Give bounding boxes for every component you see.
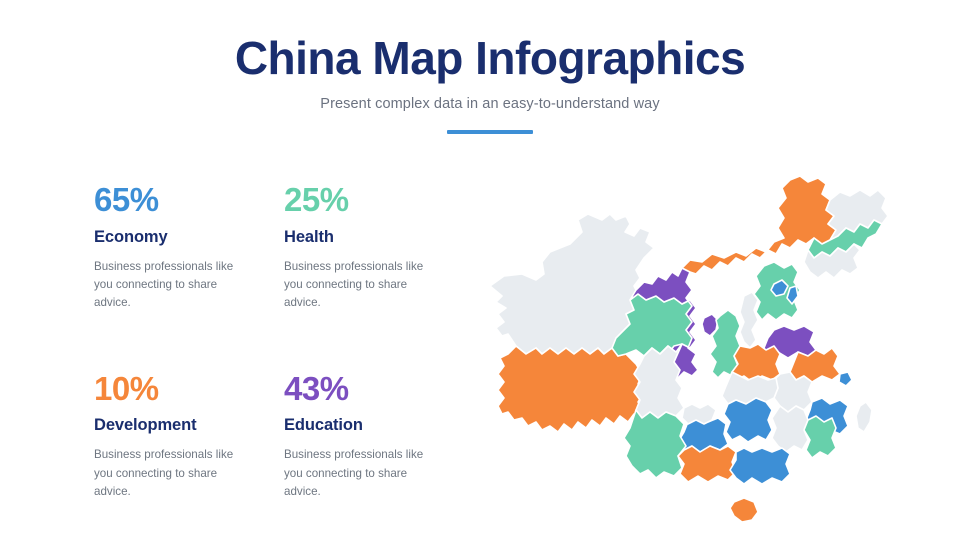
stat-value: 43% bbox=[284, 372, 474, 407]
page-title: China Map Infographics bbox=[0, 34, 980, 82]
region-shanghai[interactable] bbox=[839, 372, 852, 386]
stat-label: Economy bbox=[94, 228, 284, 247]
header: China Map Infographics Present complex d… bbox=[0, 34, 980, 134]
china-map-svg bbox=[478, 158, 978, 551]
stat-label: Education bbox=[284, 416, 474, 435]
stats-grid: 65% Economy Business professionals like … bbox=[94, 183, 474, 501]
region-jiangsu[interactable] bbox=[790, 348, 840, 382]
accent-divider bbox=[447, 130, 533, 134]
stat-description: Business professionals like you connecti… bbox=[94, 446, 234, 501]
stat-value: 65% bbox=[94, 183, 284, 218]
stats-row: 10% Development Business professionals l… bbox=[94, 372, 474, 502]
stat-card-health[interactable]: 25% Health Business professionals like y… bbox=[284, 183, 474, 313]
region-tibet[interactable] bbox=[498, 346, 644, 432]
region-hainan[interactable] bbox=[730, 498, 758, 522]
stat-description: Business professionals like you connecti… bbox=[94, 258, 234, 313]
page-subtitle: Present complex data in an easy-to-under… bbox=[0, 96, 980, 112]
stat-card-education[interactable]: 43% Education Business professionals lik… bbox=[284, 372, 474, 502]
stat-label: Health bbox=[284, 228, 474, 247]
stat-label: Development bbox=[94, 416, 284, 435]
region-guangxi[interactable] bbox=[678, 446, 736, 482]
stat-value: 10% bbox=[94, 372, 284, 407]
region-guangdong[interactable] bbox=[730, 448, 790, 484]
region-hunan[interactable] bbox=[724, 398, 772, 442]
stat-description: Business professionals like you connecti… bbox=[284, 446, 424, 501]
stat-card-economy[interactable]: 65% Economy Business professionals like … bbox=[94, 183, 284, 313]
region-jiangxi[interactable] bbox=[772, 406, 808, 452]
region-shanxi[interactable] bbox=[740, 292, 758, 348]
region-yunnan[interactable] bbox=[624, 410, 686, 478]
slide-canvas: China Map Infographics Present complex d… bbox=[0, 0, 980, 551]
stats-row: 65% Economy Business professionals like … bbox=[94, 183, 474, 313]
region-taiwan[interactable] bbox=[856, 402, 872, 432]
region-fujian[interactable] bbox=[804, 416, 836, 458]
stat-card-development[interactable]: 10% Development Business professionals l… bbox=[94, 372, 284, 502]
region-chongqing[interactable] bbox=[682, 404, 716, 424]
stat-value: 25% bbox=[284, 183, 474, 218]
china-map[interactable] bbox=[478, 158, 978, 551]
stat-description: Business professionals like you connecti… bbox=[284, 258, 424, 313]
